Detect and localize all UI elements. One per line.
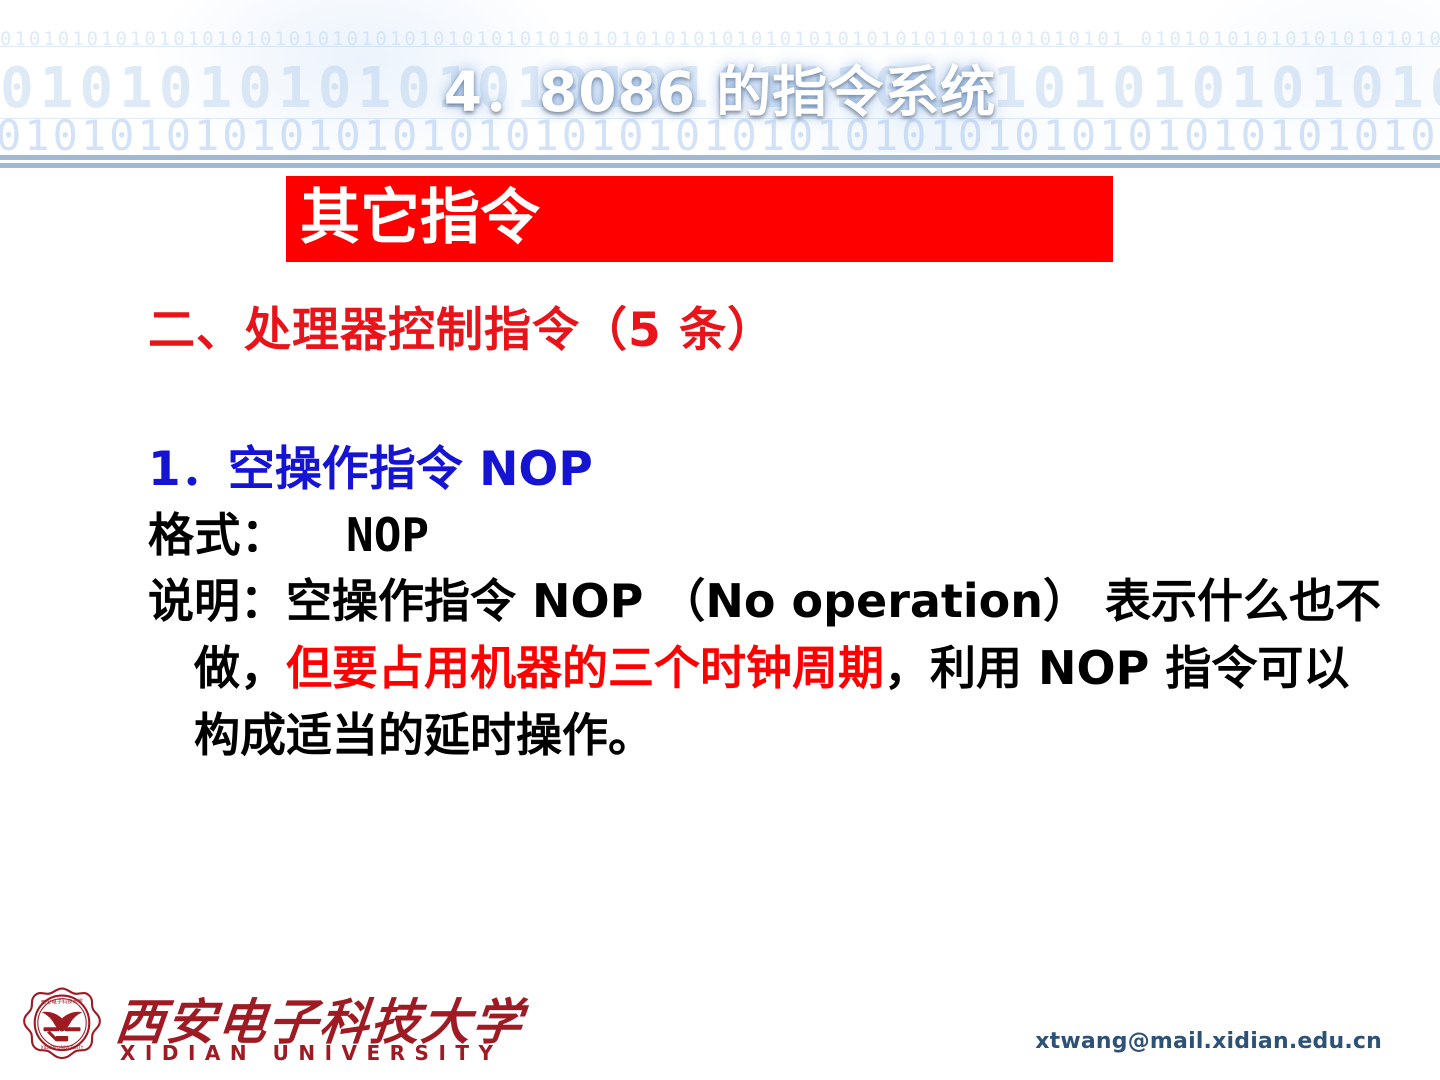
section-banner-label: 其它指令 — [300, 182, 540, 254]
university-seal-icon: 西安电子科技大学 XIDIAN UNIVERSITY — [16, 985, 108, 1073]
svg-text:XIDIAN UNIVERSITY: XIDIAN UNIVERSITY — [41, 1045, 84, 1051]
content-item-name: 空操作指令 NOP — [228, 442, 593, 497]
slide-header-banner: 0101010101010101010101010101010101010101… — [0, 0, 1440, 153]
header-underline-secondary — [0, 163, 1440, 168]
section-banner: 其它指令 — [286, 176, 1113, 262]
page-title-text: 8086 的指令系统 — [539, 60, 996, 124]
note-text-highlight: 但要占用机器的三个时钟周期 — [286, 641, 884, 695]
page-title: 4．8086 的指令系统 — [0, 62, 1440, 122]
page-title-number: 4． — [444, 60, 539, 124]
format-value: NOP — [304, 508, 429, 562]
header-bottom-binary-strip: 0101010101010101010101010101010101010101… — [0, 119, 1440, 153]
format-label: 格式： — [148, 508, 288, 562]
content-note-paragraph: 说明：空操作指令 NOP （No operation） 表示什么也不做，但要占用… — [148, 568, 1389, 769]
contact-email: xtwang@mail.xidian.edu.cn — [1035, 1029, 1382, 1054]
content-spacer — [148, 362, 1378, 424]
slide-content: 二、处理器控制指令（5 条） 1．空操作指令 NOP 格式： NOP 说明：空操… — [148, 300, 1378, 769]
header-binary-row-strip: 0101010101010101010101010101010101010101… — [0, 119, 1440, 153]
content-item-number: 1． — [148, 442, 228, 497]
content-item-title: 1．空操作指令 NOP — [148, 438, 1378, 502]
university-name-english: XIDIAN UNIVERSITY — [120, 1041, 503, 1065]
content-format-line: 格式： NOP — [148, 502, 1378, 568]
content-heading: 二、处理器控制指令（5 条） — [148, 300, 1378, 362]
header-divider-line — [0, 46, 1440, 47]
header-underline-primary — [0, 155, 1440, 160]
note-label: 说明： — [148, 574, 286, 628]
university-logo: 西安电子科技大学 XIDIAN UNIVERSITY 西安电子科技大学 XIDI… — [8, 979, 478, 1074]
